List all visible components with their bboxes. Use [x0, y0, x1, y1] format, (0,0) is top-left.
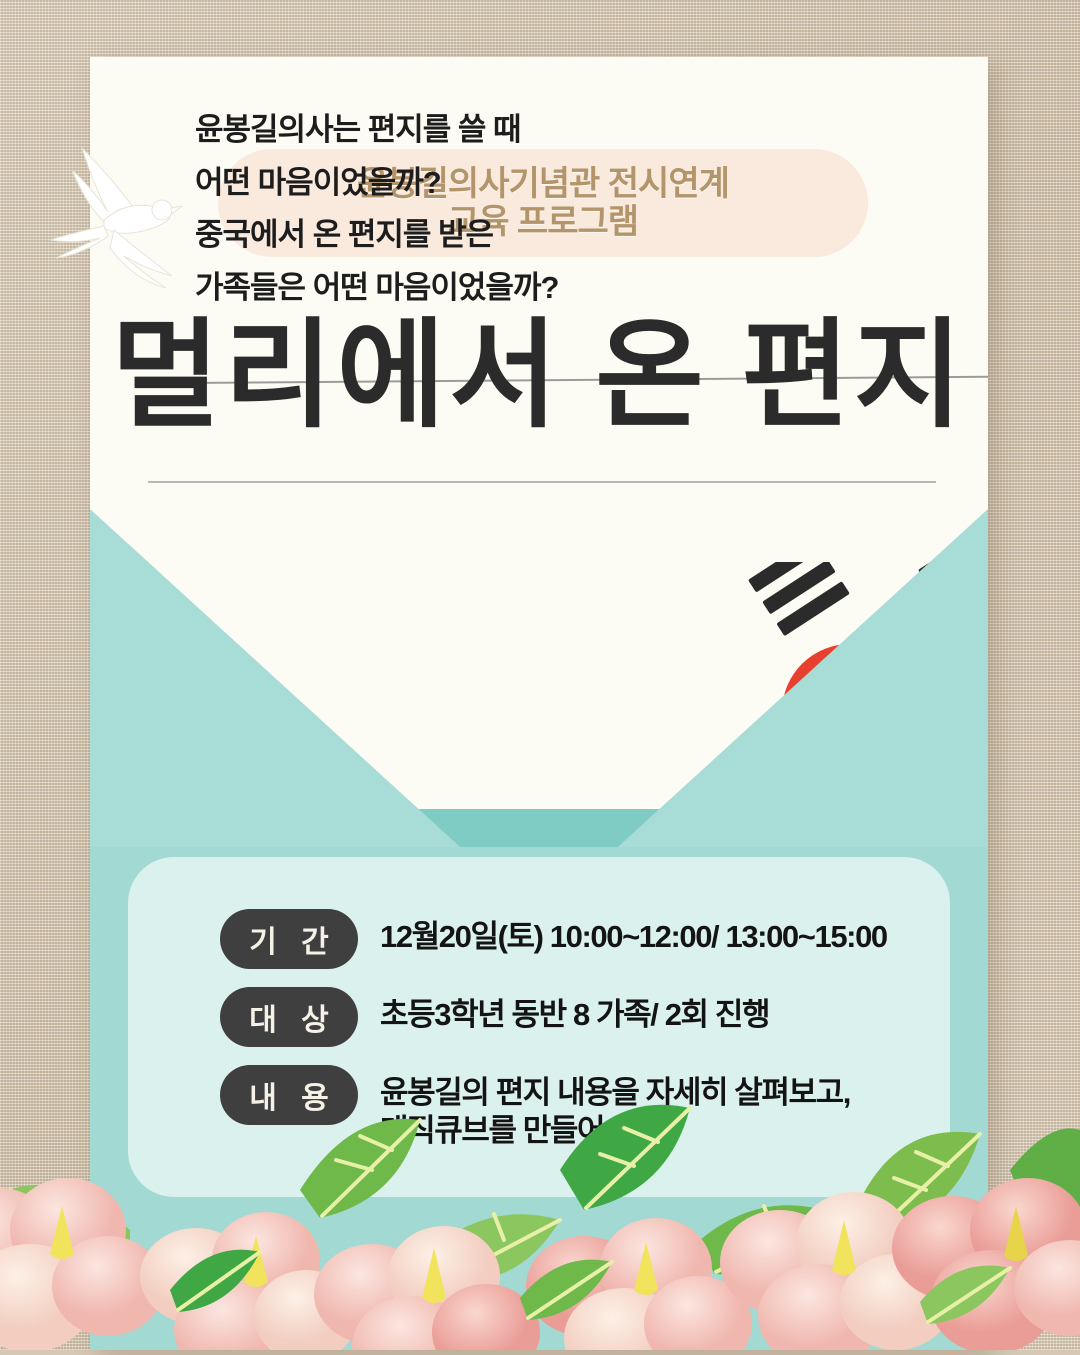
info-value-period-line-1: 12월20일(토) 10:00~12:00/ 13:00~15:00 [380, 918, 887, 956]
info-value-target: 초등3학년 동반 8 가족/ 2회 진행 [380, 987, 769, 1034]
info-label-target: 대 상 [220, 987, 358, 1047]
info-value-target-line-1: 초등3학년 동반 8 가족/ 2회 진행 [380, 996, 769, 1034]
body-line-4: 가족들은 어떤 마음이었을까? [195, 270, 665, 307]
body-line-2: 어떤 마음이었을까? [195, 165, 665, 202]
info-value-period: 12월20일(토) 10:00~12:00/ 13:00~15:00 [380, 909, 887, 956]
paper-flowers-icon [0, 1050, 1080, 1350]
body-line-3: 중국에서 온 편지를 받은 [195, 217, 665, 254]
info-row-target: 대 상 초등3학년 동반 8 가족/ 2회 진행 [220, 987, 980, 1047]
flower-border [0, 1050, 1080, 1350]
info-label-period: 기 간 [220, 909, 358, 969]
page-title: 멀리에서 온 편지 [112, 318, 967, 436]
title-divider-rule [148, 481, 936, 483]
dove-icon [42, 140, 202, 310]
body-line-1: 윤봉길의사는 편지를 쓸 때 [195, 112, 665, 149]
paper-dove-decoration [42, 140, 202, 310]
body-text: 윤봉길의사는 편지를 쓸 때 어떤 마음이었을까? 중국에서 온 편지를 받은 … [195, 112, 665, 322]
info-row-period: 기 간 12월20일(토) 10:00~12:00/ 13:00~15:00 [220, 909, 980, 969]
